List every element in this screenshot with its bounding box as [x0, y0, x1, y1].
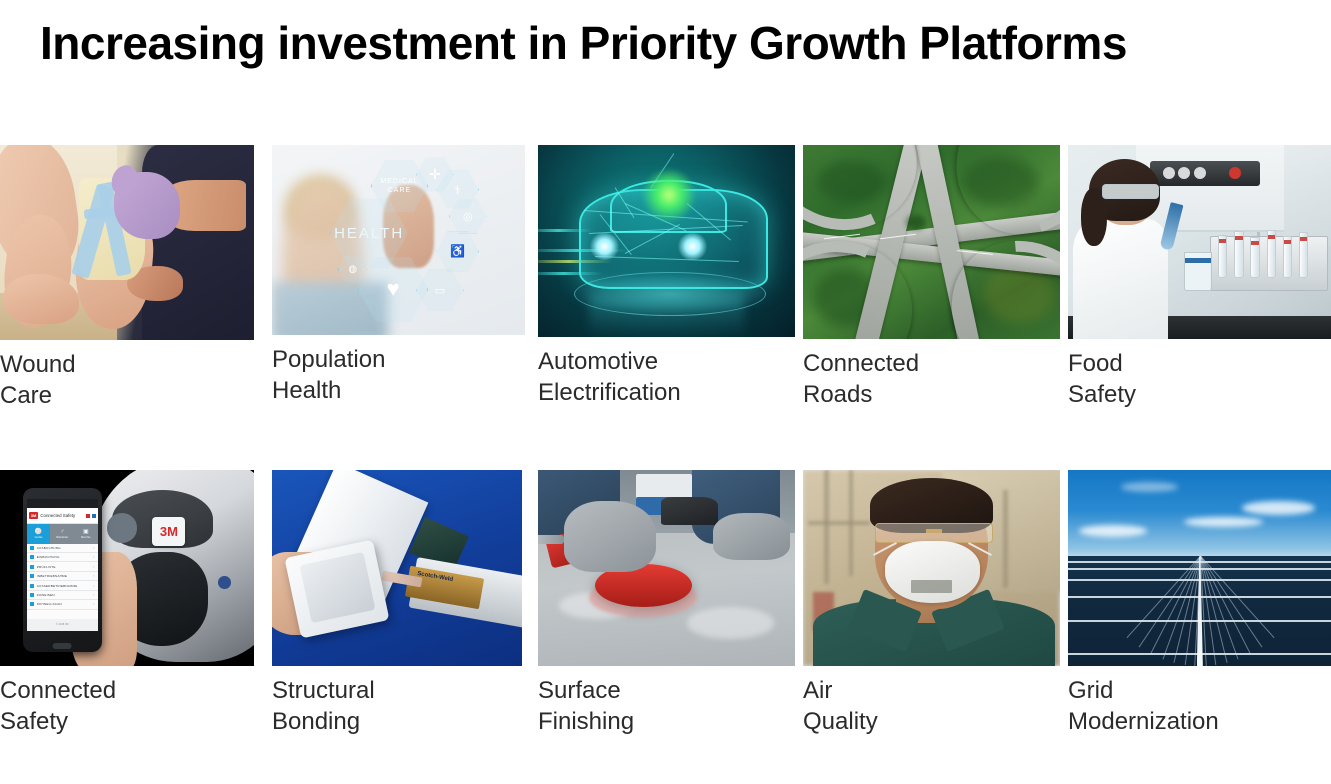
- platform-label-air-quality: Air Quality: [803, 675, 1060, 737]
- app-3m-logo: 3M: [29, 512, 39, 519]
- list-item[interactable]: SCHNELLSCAN›: [27, 600, 98, 609]
- platform-label-population-health: Population Health: [272, 344, 525, 406]
- list-item-label: ZUWEISEN: [37, 593, 55, 597]
- platform-card-wound-care[interactable]: Wound Care: [0, 145, 254, 411]
- structural-bonding-photo: Scotch-Weld: [272, 470, 522, 666]
- connected-safety-app-screen[interactable]: 3M Connected Safety ⚪Geräte ♂Mitarbeiter…: [27, 499, 98, 631]
- platform-card-connected-roads[interactable]: Connected Roads: [803, 145, 1060, 410]
- app-header: 3M Connected Safety: [27, 508, 98, 523]
- platform-label-connected-roads: Connected Roads: [803, 348, 1060, 410]
- home-button[interactable]: [53, 643, 72, 649]
- automotive-electrification-photo: [538, 145, 795, 337]
- respirator-3m-logo: 3M: [152, 517, 185, 546]
- connected-safety-photo: 3M 3M Connected Safety: [0, 470, 254, 666]
- grid-modernization-photo: [1068, 470, 1331, 666]
- tab-reports[interactable]: ▣Berichte: [74, 524, 98, 544]
- tab-workers-label: Mitarbeiter: [56, 536, 68, 539]
- tab-devices-label: Geräte: [35, 536, 43, 539]
- slide-root: Increasing investment in Priority Growth…: [0, 0, 1331, 784]
- list-item[interactable]: ZUWEISEN›: [27, 591, 98, 600]
- platform-label-automotive-electrification: Automotive Electrification: [538, 346, 795, 408]
- item-icon: [30, 555, 34, 559]
- platform-card-structural-bonding[interactable]: Scotch-Weld Structural Bonding: [272, 470, 522, 737]
- population-health-photo: HEALTH MEDICAL CARE ♥ ✛ ⚕ ▭ ♿ ◎ ◍: [272, 145, 525, 335]
- connected-roads-photo: [803, 145, 1060, 339]
- solar-panel-array: [1068, 556, 1331, 666]
- list-item[interactable]: EINBUCHUNG›: [27, 553, 98, 562]
- tab-devices[interactable]: ⚪Geräte: [27, 524, 51, 544]
- platform-card-food-safety[interactable]: Food Safety: [1068, 145, 1331, 410]
- platform-label-surface-finishing: Surface Finishing: [538, 675, 795, 737]
- item-icon: [30, 574, 34, 578]
- tab-reports-label: Berichte: [81, 536, 91, 539]
- food-safety-photo: [1068, 145, 1331, 339]
- list-item[interactable]: PRÜFLISTE›: [27, 562, 98, 571]
- platform-label-food-safety: Food Safety: [1068, 348, 1331, 410]
- platform-label-structural-bonding: Structural Bonding: [272, 675, 522, 737]
- platform-card-air-quality[interactable]: Air Quality: [803, 470, 1060, 737]
- tab-workers[interactable]: ♂Mitarbeiter: [50, 524, 74, 544]
- list-item-label: INBETRIEBNAHME: [37, 574, 67, 578]
- app-title: Connected Safety: [40, 513, 83, 518]
- chevron-right-icon: ›: [93, 584, 94, 588]
- app-menu-list[interactable]: AUSBUCHUNG› EINBUCHUNG› PRÜFLISTE› INBET…: [27, 544, 98, 619]
- list-item-label: AUSSERBETRIEBNAHME: [37, 584, 78, 588]
- air-quality-photo: [803, 470, 1060, 666]
- item-icon: [30, 593, 34, 597]
- report-icon: ▣: [83, 529, 89, 535]
- app-header-icons[interactable]: [86, 514, 96, 518]
- chevron-right-icon: ›: [93, 593, 94, 597]
- item-icon: [30, 584, 34, 588]
- list-item-label: SCHNELLSCAN: [37, 602, 62, 606]
- platform-label-connected-safety: Connected Safety: [0, 675, 254, 737]
- list-item[interactable]: INBETRIEBNAHME›: [27, 572, 98, 581]
- platform-label-wound-care: Wound Care: [0, 349, 254, 411]
- chevron-right-icon: ›: [93, 574, 94, 578]
- headset-icon: ⚪: [35, 529, 42, 535]
- platform-card-surface-finishing[interactable]: Surface Finishing: [538, 470, 795, 737]
- smartphone: 3M Connected Safety ⚪Geräte ♂Mitarbeiter…: [23, 488, 102, 653]
- chevron-right-icon: ›: [93, 555, 94, 559]
- platform-card-grid-modernization[interactable]: Grid Modernization: [1068, 470, 1331, 737]
- menu-icon[interactable]: [92, 514, 96, 518]
- chevron-right-icon: ›: [93, 565, 94, 569]
- app-tab-bar[interactable]: ⚪Geräte ♂Mitarbeiter ▣Berichte: [27, 524, 98, 544]
- app-footer: © 2018 3M: [27, 619, 98, 631]
- surface-finishing-photo: [538, 470, 795, 666]
- item-icon: [30, 546, 34, 550]
- platform-card-connected-safety[interactable]: 3M 3M Connected Safety: [0, 470, 254, 737]
- item-icon: [30, 602, 34, 606]
- list-item[interactable]: AUSBUCHUNG›: [27, 544, 98, 553]
- person-icon: ♂: [60, 529, 65, 535]
- list-item-label: PRÜFLISTE: [37, 565, 56, 569]
- platform-card-automotive-electrification[interactable]: Automotive Electrification: [538, 145, 795, 408]
- platform-label-grid-modernization: Grid Modernization: [1068, 675, 1331, 737]
- platform-card-population-health[interactable]: HEALTH MEDICAL CARE ♥ ✛ ⚕ ▭ ♿ ◎ ◍ Popula…: [272, 145, 525, 406]
- wound-care-photo: [0, 145, 254, 340]
- page-title: Increasing investment in Priority Growth…: [40, 14, 1127, 72]
- chevron-right-icon: ›: [93, 546, 94, 550]
- sync-icon[interactable]: [86, 514, 90, 518]
- phone-status-bar: [27, 499, 98, 508]
- item-icon: [30, 565, 34, 569]
- list-item-label: EINBUCHUNG: [37, 555, 60, 559]
- list-item-label: AUSBUCHUNG: [37, 546, 61, 550]
- chevron-right-icon: ›: [93, 602, 94, 606]
- list-item[interactable]: AUSSERBETRIEBNAHME›: [27, 581, 98, 590]
